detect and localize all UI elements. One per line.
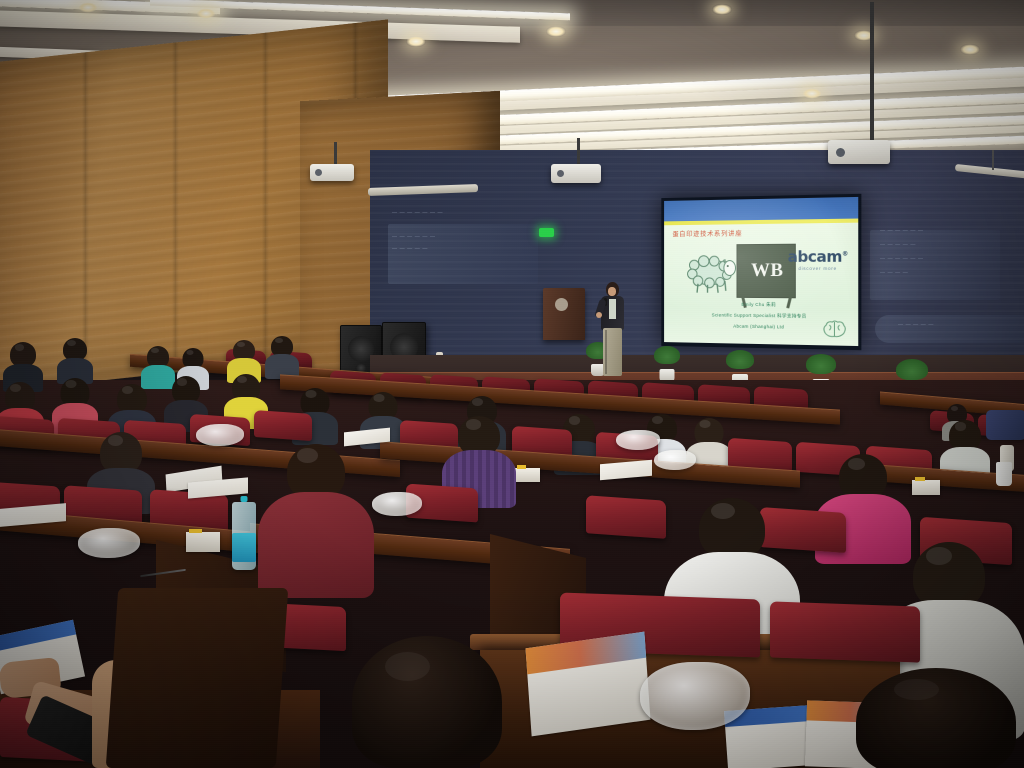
presentation-slide: 蛋白印迹技术系列讲座 (664, 197, 858, 346)
sample-bag (196, 424, 244, 446)
projector-mount-pole (334, 142, 337, 166)
abcam-wordmark: abcam® (788, 249, 848, 265)
attendee-foreground-center (352, 636, 502, 768)
ceiling-projector-center (551, 164, 601, 183)
wb-label: WB (751, 260, 783, 282)
lectern-emblem (555, 298, 568, 311)
slide-body: 蛋白印迹技术系列讲座 (664, 223, 858, 346)
presenter-hand (596, 312, 602, 318)
abcam-logo: abcam® discover more (788, 249, 848, 271)
light-bar-hanger (992, 150, 994, 170)
ceiling-downlight (78, 2, 98, 13)
slide-presenter-name: Emily Chu 朱莉 (664, 301, 858, 309)
projector-mount-pole (870, 2, 874, 142)
projector-mount-pole (577, 138, 580, 166)
projection-screen: 蛋白印迹技术系列讲座 (661, 194, 861, 350)
backpack (986, 410, 1024, 440)
slide-presenter-role: Scientific Support Specialist 科学支持专员 (664, 312, 858, 320)
lecture-hall-photo: — — — — — — — — — — — — — — — — — — — — … (0, 0, 1024, 768)
attendee (60, 338, 90, 378)
ceiling-downlight (546, 26, 566, 37)
slide-title-chinese: 蛋白印迹技术系列讲座 (673, 227, 743, 238)
sample-bag (372, 492, 422, 516)
sample-bag (640, 662, 750, 730)
conference-brochure (526, 632, 651, 737)
ceiling-projector-right (828, 140, 890, 164)
attendee (268, 336, 296, 374)
ceiling-projector-left (310, 164, 354, 181)
ceiling-downlight (406, 36, 426, 47)
sample-bag (616, 430, 660, 450)
presenter-shirt (609, 299, 616, 319)
sample-bag (78, 528, 140, 558)
reagent-box (912, 480, 940, 495)
sheep-illustration (685, 254, 741, 294)
sample-bag (654, 450, 696, 470)
seat (770, 601, 920, 662)
slide-header-band (664, 197, 858, 221)
reagent-box (514, 468, 540, 482)
paper-cup (996, 462, 1012, 486)
reagent-box (186, 532, 220, 552)
potted-plant (654, 352, 680, 382)
attendee (6, 342, 40, 386)
ceiling-downlight (196, 8, 216, 19)
presenter-on-stage (596, 282, 630, 380)
emergency-exit-sign (539, 228, 554, 237)
lectern (543, 288, 585, 340)
presenter-face (608, 287, 616, 296)
attendee-crimson-shirt (268, 444, 364, 594)
abcam-tagline: discover more (788, 266, 848, 271)
seat (254, 410, 312, 441)
desk-end-panel (106, 588, 289, 768)
seat (586, 495, 666, 539)
bottle-cap (241, 496, 248, 502)
attendee-foreground-right (856, 668, 1016, 768)
bottle-label (232, 533, 256, 562)
attendee (230, 340, 258, 378)
ceiling-downlight (712, 4, 732, 15)
ceiling-downlight (960, 44, 980, 55)
ceiling-downlight (802, 88, 822, 99)
water-bottle (232, 502, 256, 570)
